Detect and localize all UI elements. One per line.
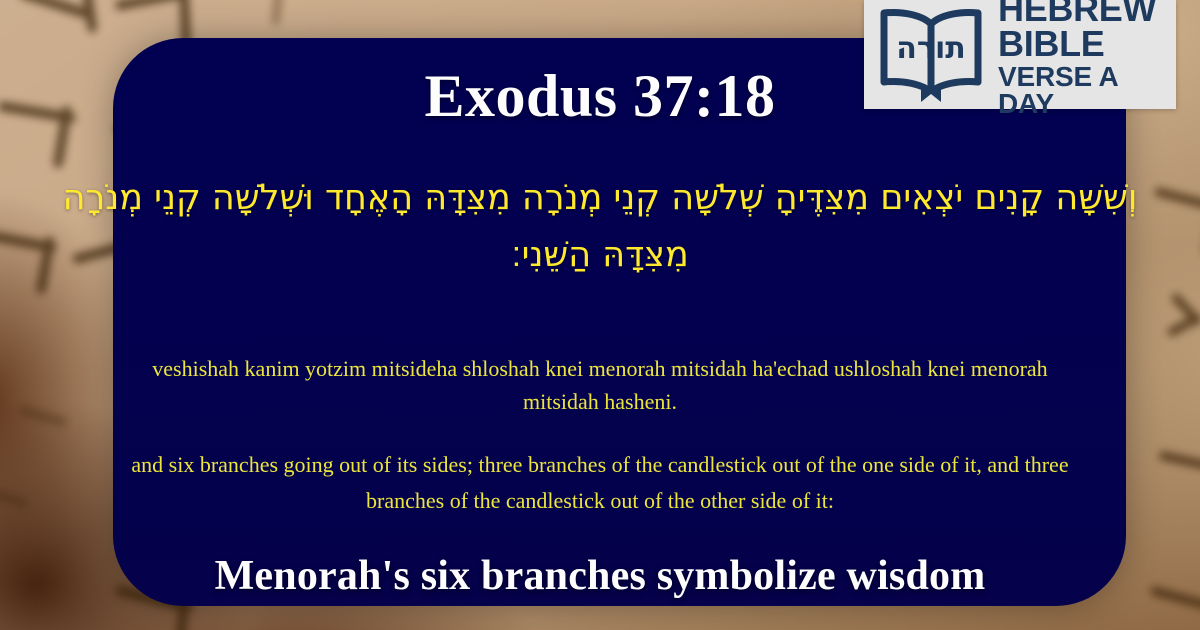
brand-wordmark: HEBREW BIBLE VERSE A DAY [998,0,1170,117]
brand-logo[interactable]: תורה HEBREW BIBLE VERSE A DAY [864,0,1176,109]
brand-line-verse-a-day: VERSE A DAY [998,63,1170,117]
caption-text: Menorah's six branches symbolize wisdom [0,552,1200,600]
brand-line-bible: BIBLE [998,27,1170,62]
open-book-icon: תורה [872,6,990,104]
verse-card-image: Exodus 37:18 וְשִׁשָּׁה קָנִים יֹצְאִים … [0,0,1200,630]
hebrew-verse-text: וְשִׁשָּׁה קָנִים יֹצְאִים מִצִּדֶּיהָ ש… [52,170,1148,283]
english-translation-text: and six branches going out of its sides;… [112,447,1088,518]
logo-hebrew-torah: תורה [896,31,965,66]
transliteration-text: veshishah kanim yotzim mitsideha shlosha… [120,352,1080,419]
